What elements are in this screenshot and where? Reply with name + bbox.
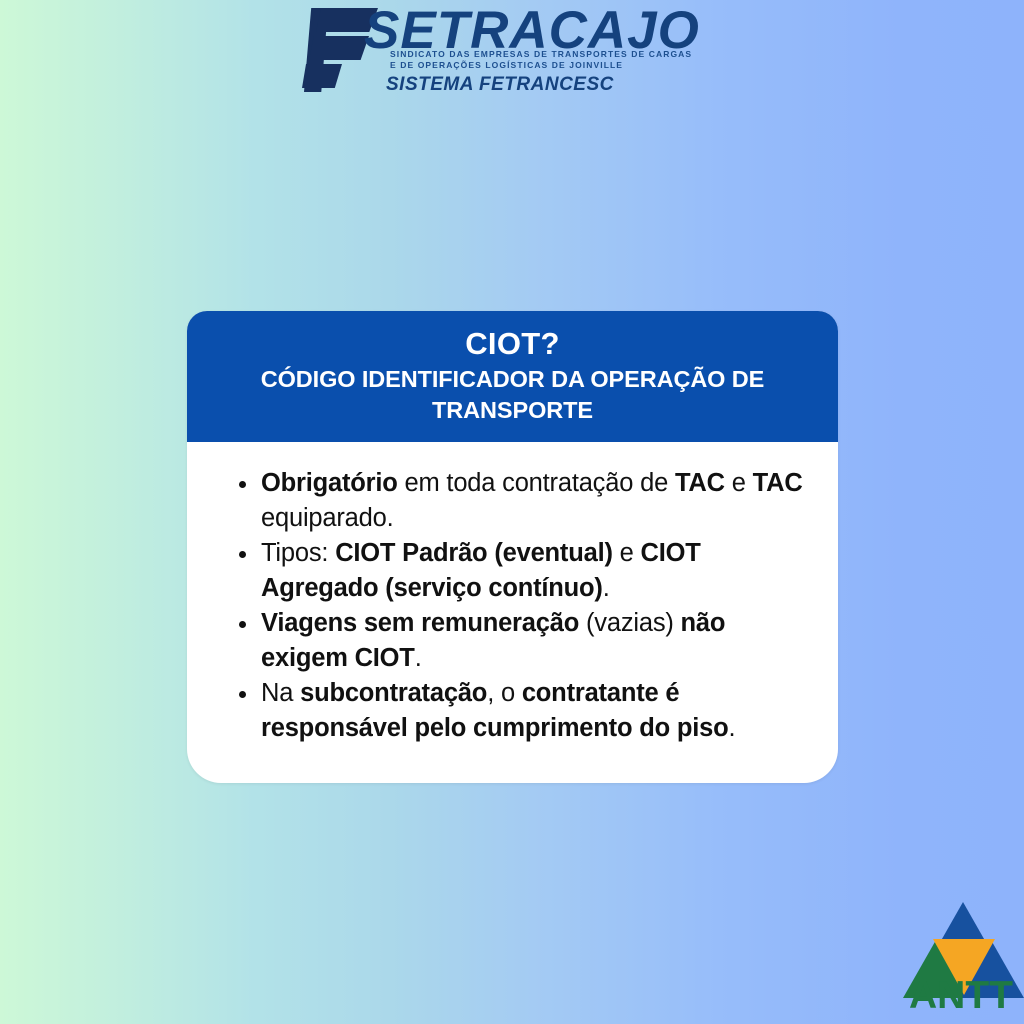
antt-logo: ANTT — [903, 898, 1024, 1010]
card-title: CIOT? — [209, 325, 816, 363]
card-body: Obrigatório em toda contratação de TAC e… — [187, 442, 838, 766]
list-item: Obrigatório em toda contratação de TAC e… — [239, 466, 812, 535]
f-icon-bar-bottom — [302, 64, 342, 88]
ciot-info-card: CIOT? CÓDIGO IDENTIFICADOR DA OPERAÇÃO D… — [187, 311, 838, 783]
antt-triangle-logo: ANTT — [903, 898, 1024, 1010]
list-item: Na subcontratação, o contratante é respo… — [239, 676, 812, 745]
card-header: CIOT? CÓDIGO IDENTIFICADOR DA OPERAÇÃO D… — [187, 311, 838, 442]
ciot-bullet-list: Obrigatório em toda contratação de TAC e… — [239, 466, 812, 745]
card-subtitle: CÓDIGO IDENTIFICADOR DA OPERAÇÃO DE TRAN… — [209, 364, 816, 426]
list-item: Viagens sem remuneração (vazias) não exi… — [239, 606, 812, 675]
setracajo-system-label: SISTEMA FETRANCESC — [386, 74, 614, 96]
f-icon-bar-middle — [309, 36, 369, 60]
antt-wordmark: ANTT — [909, 974, 1013, 1010]
setracajo-tagline: SINDICATO DAS EMPRESAS DE TRANSPORTES DE… — [390, 49, 690, 71]
tagline-line-1: SINDICATO DAS EMPRESAS DE TRANSPORTES DE… — [390, 49, 690, 60]
list-item: Tipos: CIOT Padrão (eventual) e CIOT Agr… — [239, 536, 812, 605]
setracajo-logo: SETRACAJO SINDICATO DAS EMPRESAS DE TRAN… — [300, 4, 730, 99]
tagline-line-2: E DE OPERAÇÕES LOGÍSTICAS DE JOINVILLE — [390, 60, 690, 71]
brand-header: SETRACAJO SINDICATO DAS EMPRESAS DE TRAN… — [0, 0, 1024, 105]
